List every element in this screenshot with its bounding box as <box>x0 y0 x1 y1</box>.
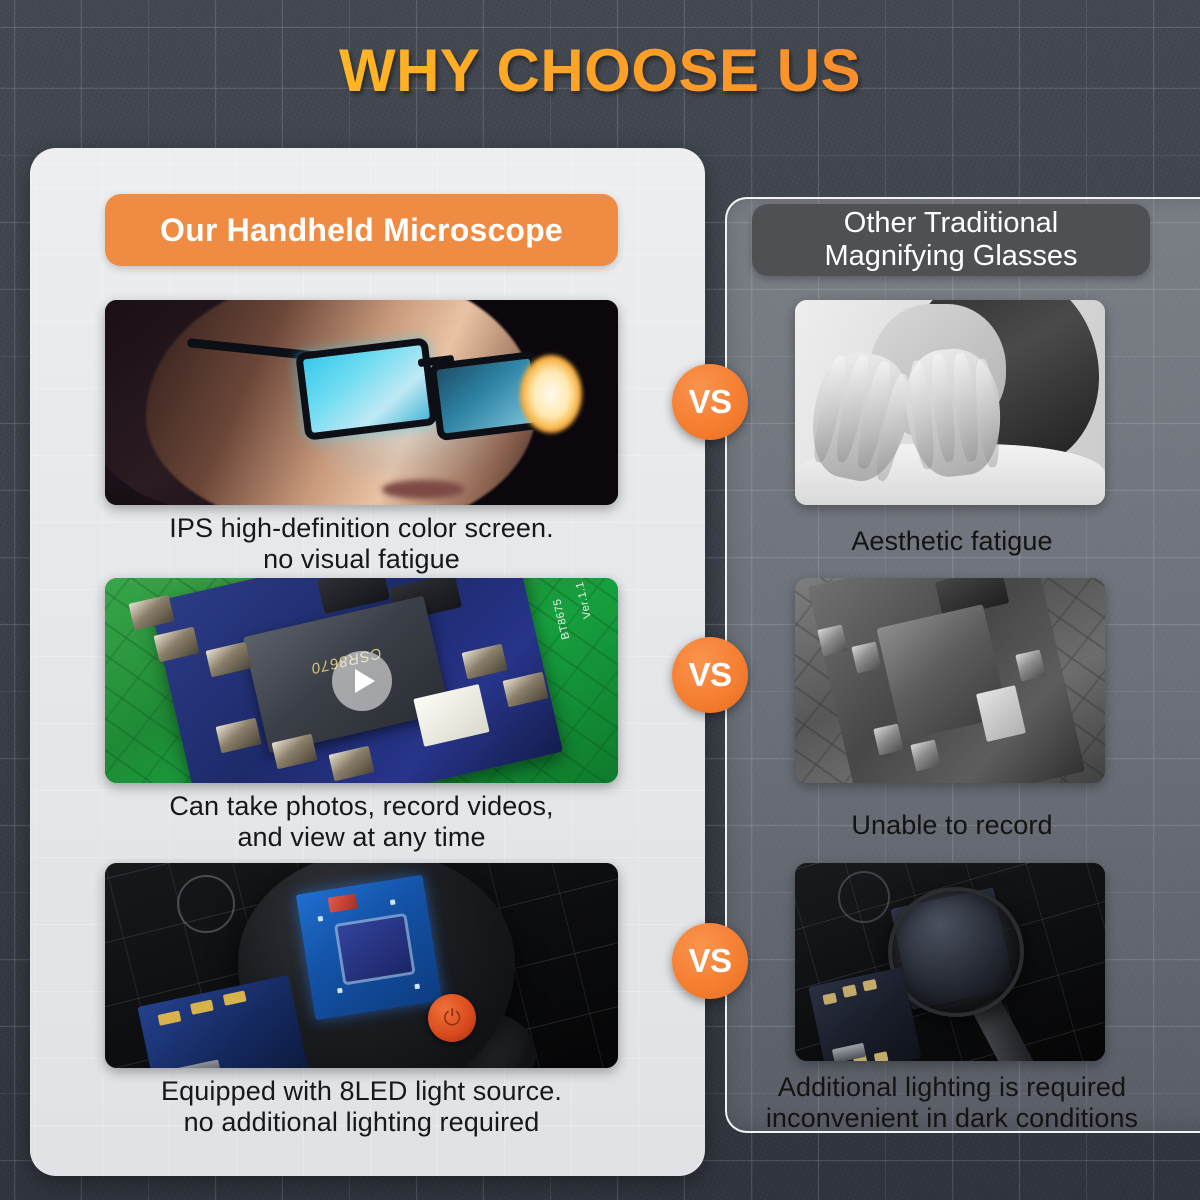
competitor-caption-row-1: Aesthetic fatigue <box>742 526 1162 557</box>
gold-pad <box>223 991 246 1006</box>
mat-logo-icon <box>838 871 890 923</box>
solder-point <box>337 987 343 993</box>
vs-badge-row-2: VS <box>672 637 748 713</box>
competitor-column-header-line1: Other Traditional <box>844 207 1058 240</box>
competitor-caption-row-2: Unable to record <box>742 810 1162 841</box>
gold-pad <box>190 1000 213 1015</box>
page-title: WHY CHOOSE US <box>0 36 1200 105</box>
red-component <box>327 893 357 912</box>
gold-pad <box>842 985 857 998</box>
competitor-column-header-line2: Magnifying Glasses <box>824 240 1077 273</box>
competitor-image-row-1 <box>795 300 1105 505</box>
chip-die <box>337 916 412 982</box>
vs-badge-row-1: VS <box>672 364 748 440</box>
solder-point <box>390 899 396 905</box>
vs-badge-label: VS <box>688 942 731 980</box>
vs-badge-row-3: VS <box>672 923 748 999</box>
product-column-header: Our Handheld Microscope <box>105 194 618 266</box>
microscope-screen <box>296 874 443 1020</box>
resistor <box>817 625 847 657</box>
vs-badge-label: VS <box>688 656 731 694</box>
resistor <box>873 723 903 755</box>
mat-logo-icon <box>177 875 235 933</box>
usb-connector <box>167 1060 221 1068</box>
product-image-row-2[interactable]: CSR8670 BT8675 Ver.1.1 <box>105 578 618 783</box>
glasses-lens-right <box>295 337 438 441</box>
gold-pad <box>873 1051 888 1061</box>
product-caption-row-1: IPS high-definition color screen. no vis… <box>105 513 618 575</box>
product-caption-row-2: Can take photos, record videos, and view… <box>105 791 618 853</box>
product-image-row-3 <box>105 863 618 1068</box>
bokeh-light <box>520 355 582 433</box>
product-caption-row-3: Equipped with 8LED light source. no addi… <box>105 1076 618 1138</box>
gold-pad <box>822 993 837 1006</box>
product-column-header-label: Our Handheld Microscope <box>160 212 563 249</box>
product-image-row-1 <box>105 300 618 505</box>
competitor-image-row-2 <box>795 578 1105 783</box>
competitor-caption-row-3: Additional lighting is required inconven… <box>742 1072 1162 1134</box>
solder-point <box>318 916 324 922</box>
gold-pad <box>862 978 877 991</box>
solder-point <box>414 983 420 989</box>
vs-badge-label: VS <box>688 383 731 421</box>
resistor <box>910 740 940 772</box>
competitor-image-row-3 <box>795 863 1105 1061</box>
power-button-icon[interactable] <box>428 994 476 1042</box>
play-button-icon[interactable] <box>332 651 392 711</box>
lips-shape <box>382 480 464 498</box>
gold-pad <box>158 1010 181 1025</box>
competitor-column-header: Other Traditional Magnifying Glasses <box>752 204 1150 276</box>
